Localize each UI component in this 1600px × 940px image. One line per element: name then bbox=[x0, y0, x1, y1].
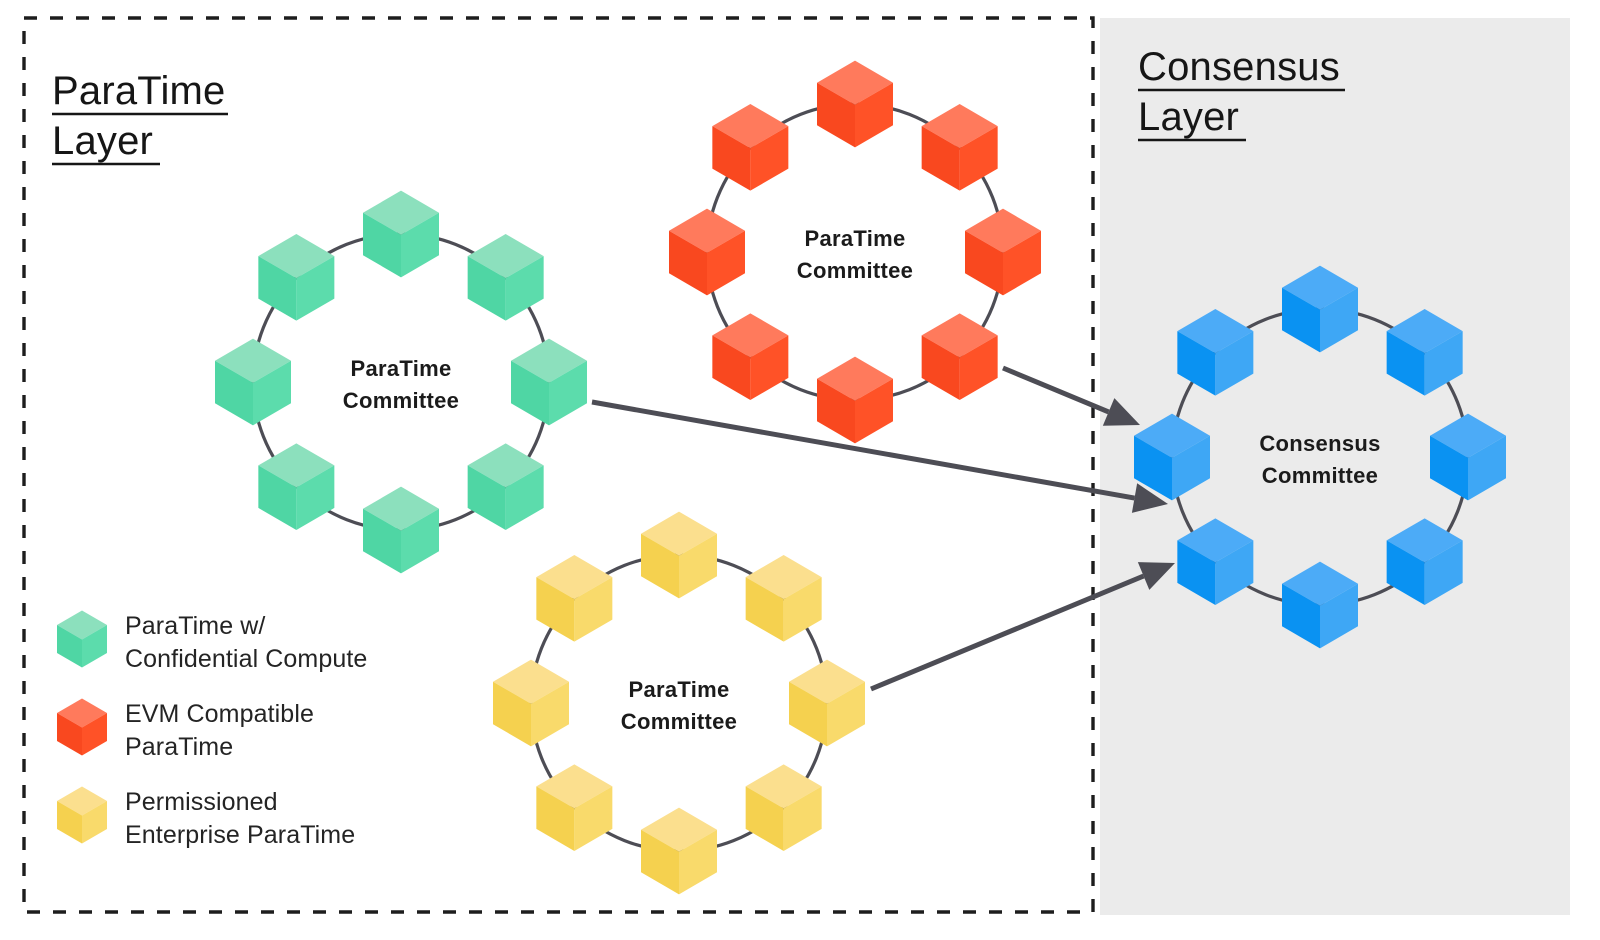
consensus-title-line1: Consensus bbox=[1138, 45, 1340, 89]
paratime-title-line1: ParaTime bbox=[52, 69, 226, 113]
diagram-canvas: ParaTime Layer Consensus Layer ParaTimeC… bbox=[0, 0, 1600, 940]
legend-item-red: EVM CompatibleParaTime bbox=[57, 699, 314, 762]
committee-node-cube bbox=[922, 313, 998, 400]
committee-node-cube bbox=[669, 209, 745, 296]
committee-node-cube bbox=[363, 487, 439, 574]
committee-node-cube bbox=[641, 512, 717, 599]
committee-node-cube bbox=[712, 104, 788, 191]
committee-node-cube bbox=[468, 443, 544, 530]
committee-node-cube bbox=[258, 234, 334, 321]
committee-node-cube bbox=[817, 61, 893, 148]
consensus-title-line2: Layer bbox=[1138, 95, 1239, 139]
legend: ParaTime w/Confidential ComputeEVM Compa… bbox=[57, 611, 367, 850]
legend-label-line1: ParaTime w/ bbox=[125, 612, 265, 640]
paratime-layer-title: ParaTime Layer bbox=[52, 69, 228, 164]
committee-node-cube bbox=[817, 357, 893, 444]
architecture-diagram: ParaTime Layer Consensus Layer ParaTimeC… bbox=[0, 0, 1600, 940]
committee-paratime-permissioned: ParaTimeCommittee bbox=[493, 512, 865, 895]
committee-node-cube bbox=[789, 660, 865, 747]
committee-node-cube bbox=[641, 808, 717, 895]
committee-node-cube bbox=[511, 339, 587, 426]
legend-item-yellow: PermissionedEnterprise ParaTime bbox=[57, 787, 355, 850]
legend-swatch-cube bbox=[57, 699, 107, 756]
committee-label-line2: Committee bbox=[797, 258, 913, 283]
committee-label-line2: Committee bbox=[343, 388, 459, 413]
committee-node-cube bbox=[493, 660, 569, 747]
committee-node-cube bbox=[746, 555, 822, 642]
committee-node-cube bbox=[363, 191, 439, 278]
committee-node-cube bbox=[712, 313, 788, 400]
committee-node-cube bbox=[536, 764, 612, 851]
committee-label-line1: Consensus bbox=[1259, 431, 1380, 456]
legend-label-line1: Permissioned bbox=[125, 788, 278, 816]
legend-swatch-cube bbox=[57, 611, 107, 668]
paratime-title-line2: Layer bbox=[52, 119, 153, 163]
committee-node-cube bbox=[746, 764, 822, 851]
committee-node-cube bbox=[536, 555, 612, 642]
committee-label-line1: ParaTime bbox=[804, 226, 905, 251]
committee-node-cube bbox=[258, 443, 334, 530]
committee-label-line2: Committee bbox=[1262, 463, 1378, 488]
committee-node-cube bbox=[468, 234, 544, 321]
legend-label-line2: Enterprise ParaTime bbox=[125, 821, 355, 849]
committee-node-cube bbox=[215, 339, 291, 426]
committee-node-cube bbox=[965, 209, 1041, 296]
legend-label-line1: EVM Compatible bbox=[125, 700, 314, 728]
legend-label-line2: Confidential Compute bbox=[125, 645, 367, 673]
committee-label-line1: ParaTime bbox=[628, 677, 729, 702]
committee-paratime-confidential: ParaTimeCommittee bbox=[215, 191, 587, 574]
legend-swatch-cube bbox=[57, 787, 107, 844]
committee-paratime-evm: ParaTimeCommittee bbox=[669, 61, 1041, 444]
committee-label-line1: ParaTime bbox=[350, 356, 451, 381]
legend-label-line2: ParaTime bbox=[125, 733, 233, 761]
committee-node-cube bbox=[922, 104, 998, 191]
legend-item-green: ParaTime w/Confidential Compute bbox=[57, 611, 367, 674]
committee-label-line2: Committee bbox=[621, 709, 737, 734]
